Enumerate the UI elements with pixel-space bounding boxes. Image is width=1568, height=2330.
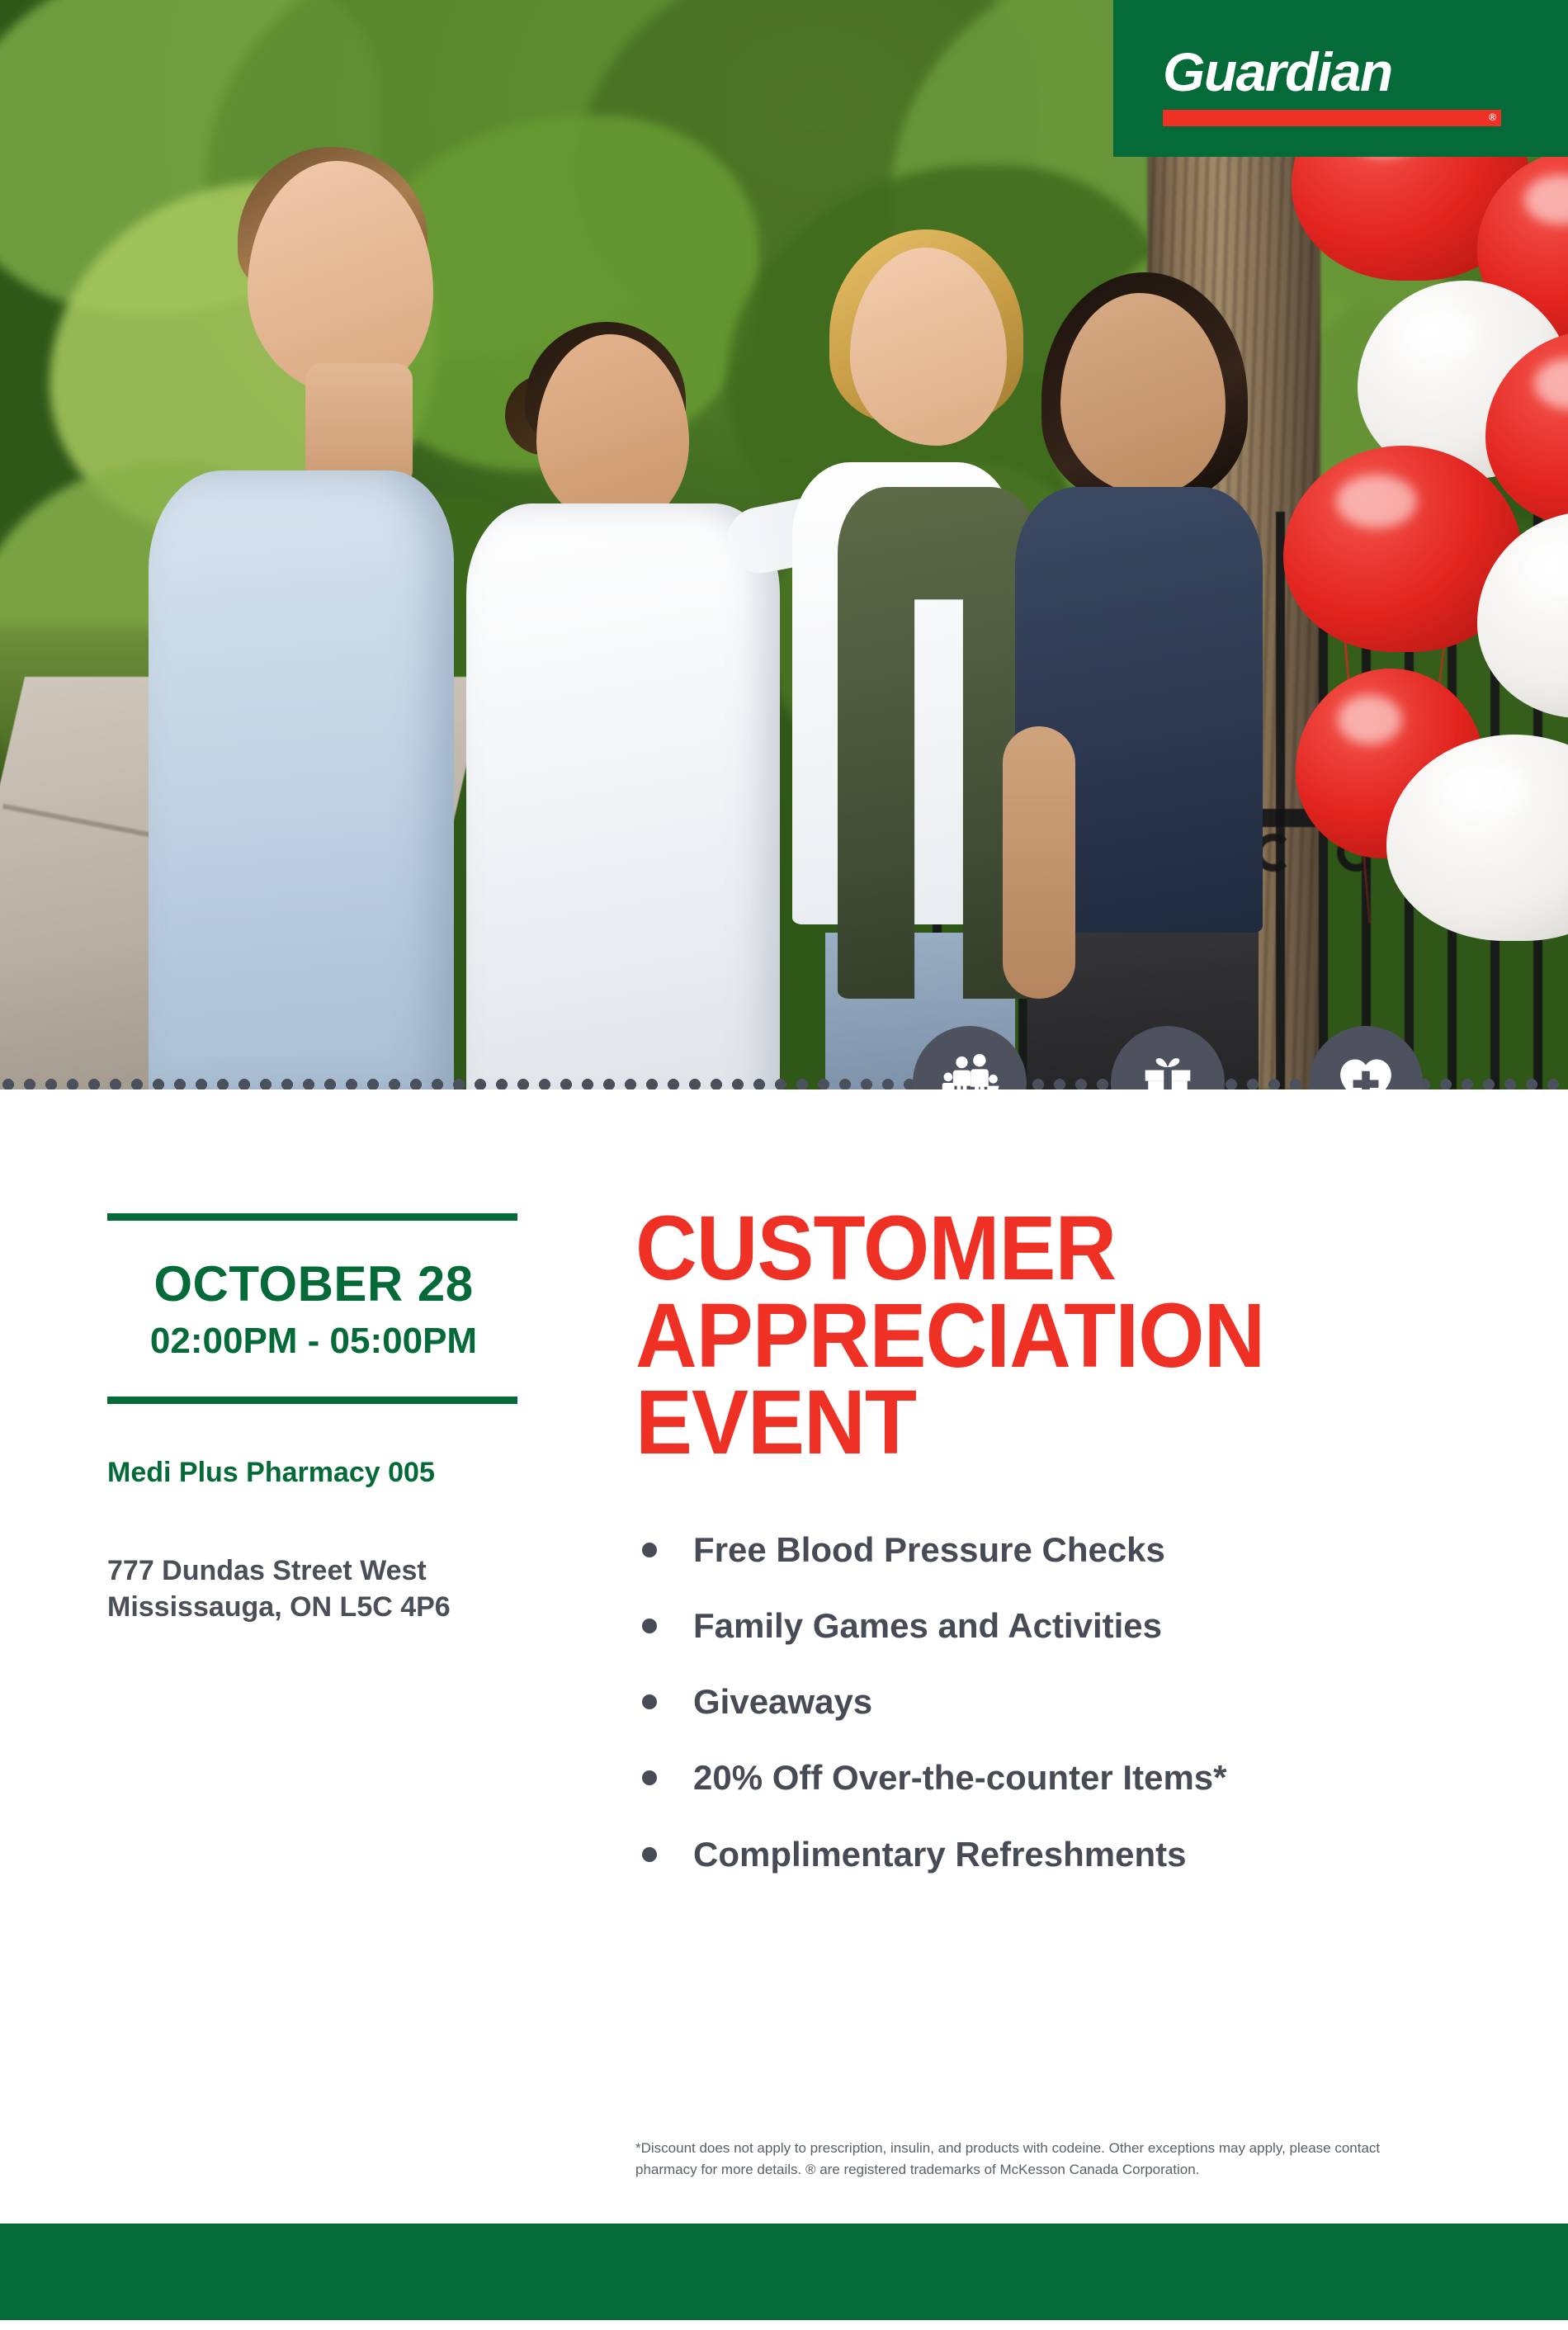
headline-line-3: EVENT	[635, 1379, 1419, 1467]
headline-line-1: CUSTOMER	[635, 1205, 1419, 1293]
store-name: Medi Plus Pharmacy 005	[107, 1457, 520, 1489]
poster-content: OCTOBER 28 02:00PM - 05:00PM Medi Plus P…	[0, 1089, 1568, 2224]
logo-red-bar: ®	[1163, 110, 1501, 126]
guardian-logo: Guardian ®	[1113, 0, 1568, 157]
guardian-wordmark: Guardian	[1163, 45, 1518, 99]
headline-line-2: APPRECIATION	[635, 1293, 1419, 1380]
bullet-dot-icon	[642, 1847, 657, 1862]
event-date: OCTOBER 28	[107, 1255, 520, 1312]
list-item: Free Blood Pressure Checks	[635, 1531, 1469, 1569]
offer-label: Giveaways	[693, 1683, 872, 1721]
event-details-column: OCTOBER 28 02:00PM - 05:00PM Medi Plus P…	[107, 1213, 520, 1625]
offer-label: Family Games and Activities	[693, 1607, 1162, 1645]
list-item: Complimentary Refreshments	[635, 1836, 1469, 1874]
offers-list: Free Blood Pressure Checks Family Games …	[635, 1531, 1469, 1874]
list-item: Giveaways	[635, 1683, 1469, 1721]
offer-label: 20% Off Over-the-counter Items*	[693, 1759, 1227, 1797]
registered-mark-icon: ®	[1489, 111, 1496, 123]
hero-photo: Guardian ®	[0, 0, 1568, 1089]
list-item: 20% Off Over-the-counter Items*	[635, 1759, 1469, 1797]
bullet-dot-icon	[642, 1619, 657, 1633]
disclaimer-text: *Discount does not apply to prescription…	[635, 2138, 1436, 2180]
offer-label: Free Blood Pressure Checks	[693, 1531, 1165, 1569]
page-title: CUSTOMER APPRECIATION EVENT	[635, 1205, 1419, 1467]
address-line-1: 777 Dundas Street West	[107, 1553, 520, 1590]
store-address: 777 Dundas Street West Mississauga, ON L…	[107, 1553, 520, 1625]
rule-top	[107, 1213, 517, 1221]
event-time: 02:00PM - 05:00PM	[107, 1321, 520, 1362]
headline-and-offers-column: CUSTOMER APPRECIATION EVENT Free Blood P…	[635, 1205, 1469, 1912]
list-item: Family Games and Activities	[635, 1607, 1469, 1645]
footer-green-bar	[0, 2224, 1568, 2320]
bullet-dot-icon	[642, 1694, 657, 1709]
bullet-dot-icon	[642, 1543, 657, 1557]
bullet-dot-icon	[642, 1770, 657, 1785]
offer-label: Complimentary Refreshments	[693, 1836, 1187, 1874]
address-line-2: Mississauga, ON L5C 4P6	[107, 1590, 520, 1626]
rule-bottom	[107, 1397, 517, 1404]
